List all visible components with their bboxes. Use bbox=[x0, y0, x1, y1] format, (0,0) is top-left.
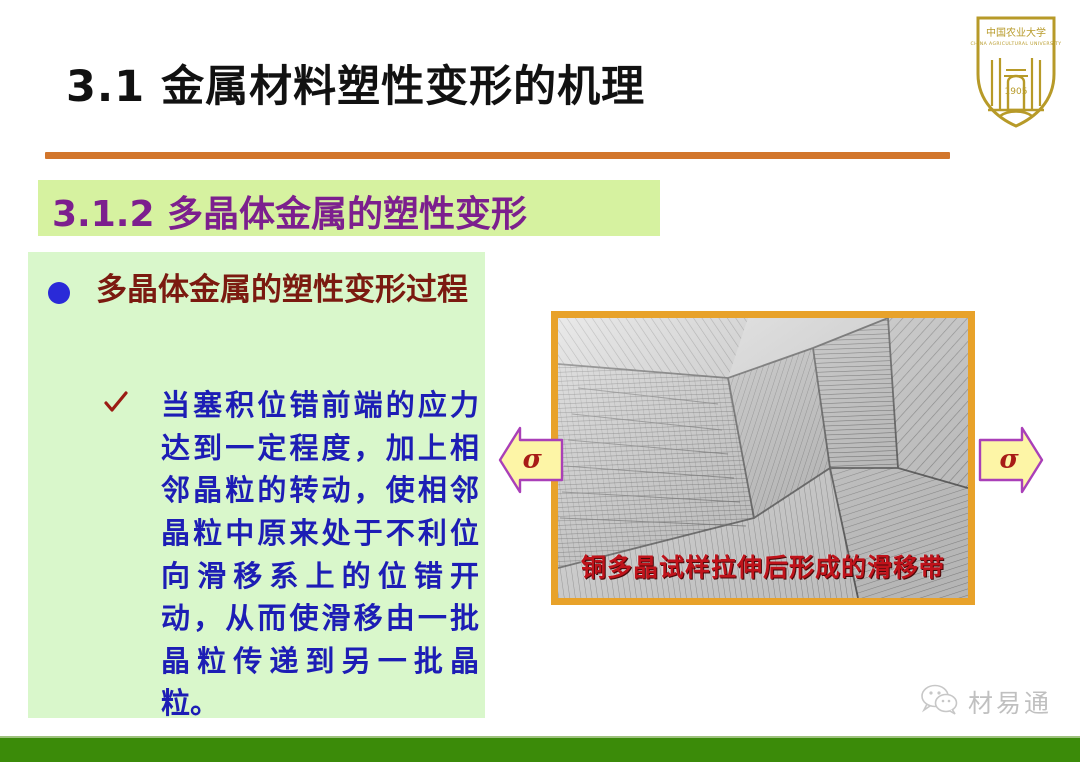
watermark-label: 材易通 bbox=[968, 684, 1052, 720]
svg-text:中国农业大学: 中国农业大学 bbox=[986, 26, 1046, 39]
sub-bullet-label: 当塞积位错前端的应力达到一定程度，加上相邻晶粒的转动，使相邻晶粒中原来处于不利位… bbox=[161, 384, 479, 725]
university-logo-icon: 中国农业大学 CHINA AGRICULTURAL UNIVERSITY 190… bbox=[970, 10, 1062, 130]
section-heading: 3.1.2 多晶体金属的塑性变形 bbox=[52, 185, 527, 237]
figure-micrograph: 铜多晶试样拉伸后形成的滑移带 bbox=[551, 311, 975, 605]
stress-arrow-left: σ bbox=[498, 424, 564, 496]
watermark: 材易通 bbox=[919, 683, 1052, 720]
filled-circle-icon bbox=[48, 282, 70, 304]
page-title: 3.1 金属材料塑性变形的机理 bbox=[66, 52, 645, 114]
stress-arrow-right: σ bbox=[978, 424, 1044, 496]
bullet-label: 多晶体金属的塑性变形过程 bbox=[96, 268, 486, 312]
checkmark-icon bbox=[103, 390, 129, 416]
micrograph-image bbox=[558, 318, 968, 598]
slide: 3.1 金属材料塑性变形的机理 中国农业大学 CHINA AGRICULTURA… bbox=[0, 0, 1080, 762]
svg-text:1905: 1905 bbox=[1005, 87, 1028, 97]
title-divider bbox=[45, 152, 950, 159]
wechat-icon bbox=[919, 683, 959, 720]
bottom-bar bbox=[0, 736, 1080, 762]
svg-text:CHINA AGRICULTURAL UNIVERSITY: CHINA AGRICULTURAL UNIVERSITY bbox=[971, 41, 1062, 47]
